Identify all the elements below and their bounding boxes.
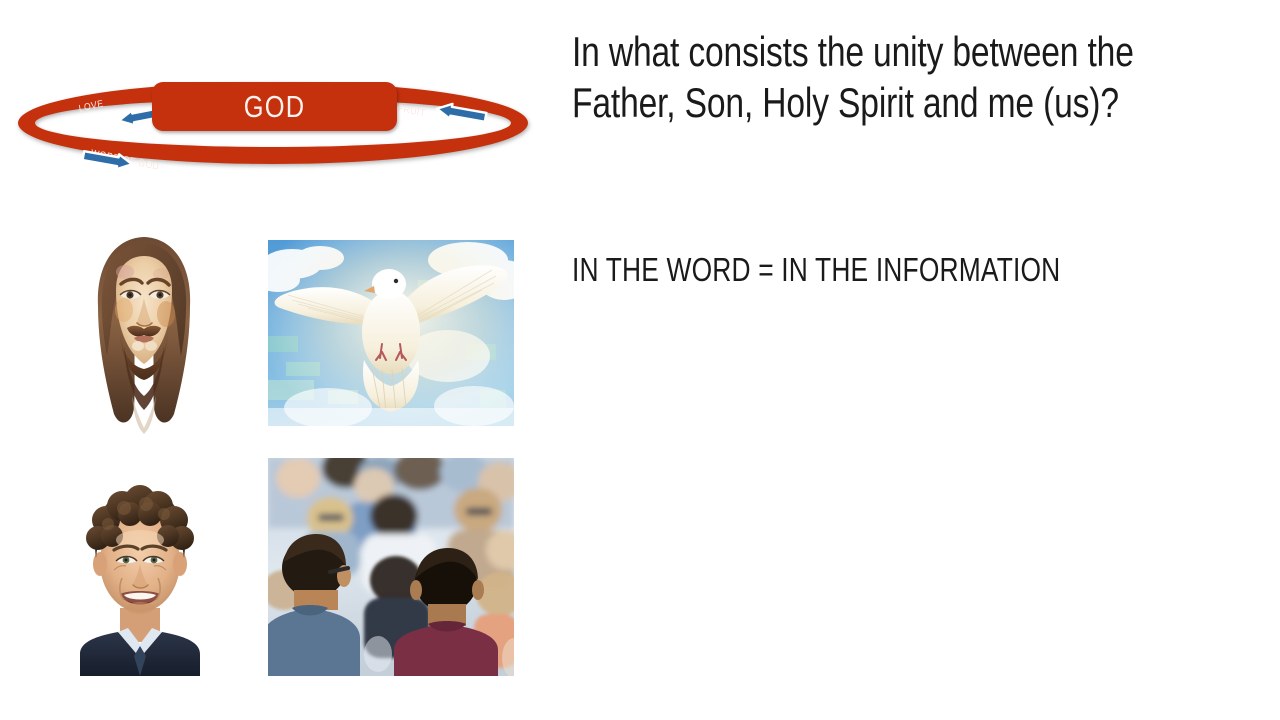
answer-text: IN THE WORD = IN THE INFORMATION	[572, 250, 1060, 290]
god-center-box: GOD	[152, 82, 397, 131]
image-dove	[268, 240, 514, 426]
image-jesus-watercolor	[78, 228, 210, 436]
god-label: GOD	[244, 91, 306, 122]
image-man-portrait	[62, 466, 218, 676]
arrow-fruit-left-icon	[435, 105, 487, 121]
arrow-word-of-god-right-icon	[82, 152, 134, 168]
image-crowd	[268, 458, 514, 676]
god-cycle-diagram: LOVE WORD OF GOD FRUIT	[18, 72, 528, 177]
question-heading: In what consists the unity between the F…	[572, 26, 1236, 128]
slide-canvas: LOVE WORD OF GOD FRUIT	[0, 0, 1280, 720]
